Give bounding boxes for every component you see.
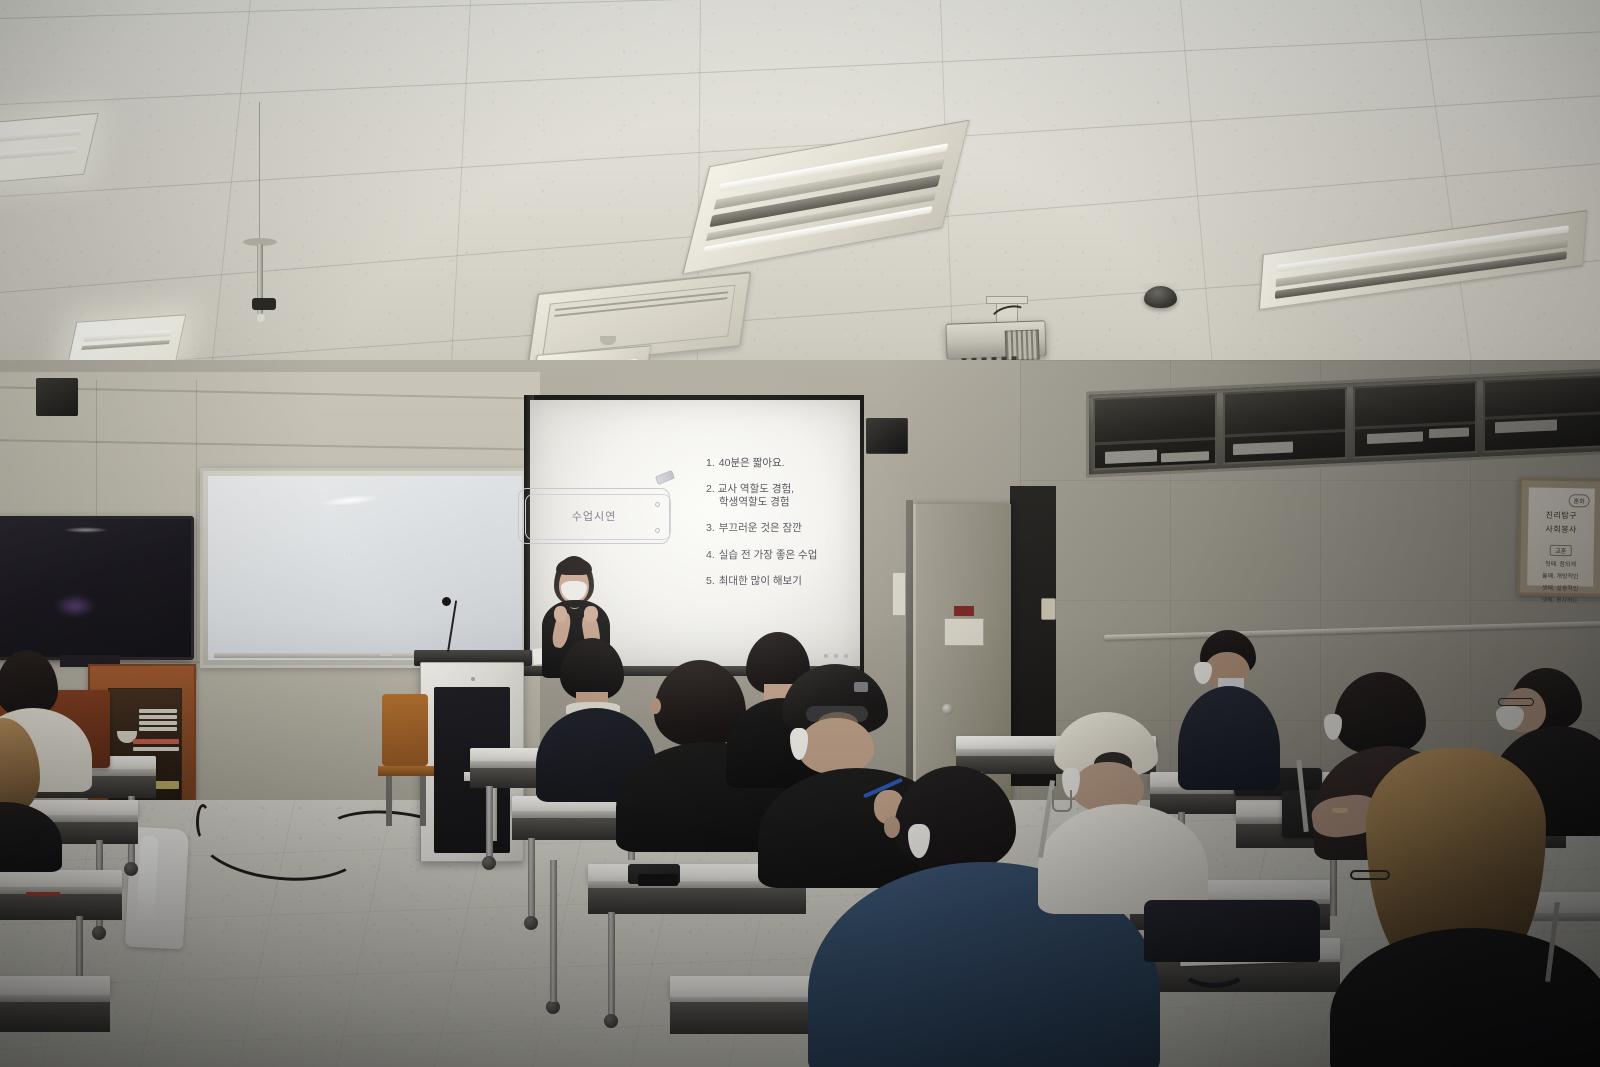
poster-line: 둘째. 개방적인 [1542, 571, 1579, 581]
wall-seam [196, 380, 197, 680]
tv-screen-content [55, 595, 95, 617]
stored-books [139, 715, 177, 719]
slide-bullet-text: 40분은 짧아요. [719, 457, 785, 470]
slide-bullet-number: 2. [706, 483, 715, 495]
slide-tag-dot [655, 528, 660, 533]
presenter-hand-right [584, 606, 598, 622]
poster-subtitle: 교훈 [1550, 545, 1571, 556]
cabinet-pane[interactable] [1483, 375, 1600, 452]
cap-logo [854, 682, 868, 692]
ceiling-sensor-bulb [257, 314, 265, 322]
ceiling-sensor-head [252, 298, 276, 310]
ac-drain-nub [600, 336, 616, 345]
slide-section-label: 수업시연 [572, 508, 616, 524]
slide-bullet-number: 1. [706, 457, 715, 470]
slide-bullet-text: 부끄러운 것은 잠깐 [719, 522, 802, 535]
slide-tag-dot [655, 502, 660, 507]
desk-leg [528, 838, 535, 920]
desk-underside [0, 1002, 110, 1032]
cabinet-pane[interactable] [1353, 381, 1477, 459]
whiteboard[interactable]: · · [200, 468, 530, 668]
slide-bullet-number: 4. [706, 549, 715, 562]
desk-caster [604, 1014, 618, 1028]
slide-bullet-item: 5. 최대한 많이 해보기 [706, 575, 856, 588]
cabinet-pane[interactable] [1223, 387, 1347, 465]
stored-books [133, 739, 179, 744]
stored-papers [1161, 451, 1209, 462]
slide-bullet-item: 4. 실습 전 가장 좋은 수업 [706, 549, 856, 562]
poster-line: 넷째. 봉사하는 [1542, 595, 1579, 605]
audience-member [1180, 630, 1300, 770]
hair [560, 638, 624, 700]
slide-bullet-text-line2: 학생역할도 경험 [719, 496, 856, 509]
hair [0, 718, 40, 814]
slide-bullet-item: 3. 부끄러운 것은 잠깐 [706, 522, 856, 535]
stored-papers [1429, 427, 1469, 438]
student-desk[interactable] [0, 976, 110, 996]
desk-underside [0, 894, 122, 920]
desk-leg [550, 860, 557, 1002]
poster-divider [1539, 540, 1584, 541]
poster-title-line-2: 사회봉사 [1545, 524, 1577, 536]
podium-screw [471, 677, 475, 681]
ceiling-light-fixture [0, 113, 99, 185]
eyeglasses [1350, 870, 1390, 880]
stored-books [139, 727, 177, 731]
desk-underside [588, 888, 806, 914]
necklace [570, 604, 579, 609]
phone-on-desk[interactable] [638, 874, 678, 886]
ceiling [0, 0, 1600, 420]
whiteboard-surface[interactable]: · · [208, 476, 522, 660]
presenter-fringe [556, 558, 592, 575]
wall-notice [892, 572, 906, 616]
dome-security-camera [1144, 286, 1177, 308]
slide-bullet-item: 2. 교사 역할도 경험, 학생역할도 경험 [706, 483, 856, 509]
wall-speaker [866, 418, 908, 454]
slide-bullet-text: 실습 전 가장 좋은 수업 [719, 549, 818, 562]
presenter-hand-left [554, 606, 567, 622]
poster-badge: 훈화 [1568, 494, 1589, 507]
slide-bullet-text: 교사 역할도 경험, [718, 483, 794, 495]
slide-bullet-number: 5. [706, 575, 715, 588]
stored-papers [1367, 432, 1423, 445]
slide-page-dot [844, 654, 848, 658]
audience-member [0, 718, 76, 858]
slide-bullet-text: 최대한 많이 해보기 [719, 575, 802, 588]
audience-member [1330, 748, 1600, 1067]
classroom-photo: 훈화 진리탐구 사회봉사 교훈 첫째. 참되게 둘째. 개방적인 셋째. 실용적… [0, 0, 1600, 1067]
whiteboard-faint-writing: · · [346, 550, 353, 557]
slide-bullet-list: 1. 40분은 짧아요. 2. 교사 역할도 경험, 학생역할도 경험 3. 부… [706, 457, 856, 601]
wall-speaker [36, 378, 78, 416]
desk-caster [92, 926, 106, 940]
eyeglasses [1498, 698, 1534, 706]
ear [650, 698, 661, 714]
wooden-chair[interactable] [382, 694, 428, 766]
torso [1330, 928, 1600, 1067]
wooden-chair-leg [386, 776, 392, 826]
desk-leg [608, 912, 615, 1020]
desk-red-accent [26, 892, 60, 896]
wall-poster: 훈화 진리탐구 사회봉사 교훈 첫째. 참되게 둘째. 개방적인 셋째. 실용적… [1527, 487, 1595, 586]
door-sign-red-label [954, 606, 974, 616]
paperclip-icon [655, 470, 675, 485]
projector-ceiling-mount [986, 296, 1028, 304]
power-cable-on-floor [196, 804, 210, 840]
wooden-chair-leg [420, 776, 426, 826]
wooden-chair-seat[interactable] [378, 766, 434, 776]
ear [884, 816, 900, 838]
stored-books [133, 747, 179, 751]
whiteboard-glare [321, 493, 380, 508]
stored-books [139, 721, 177, 725]
student-desk[interactable] [0, 870, 122, 888]
slide-bullet-number: 3. [706, 522, 715, 535]
poster-line: 첫째. 참되게 [1545, 559, 1576, 569]
stored-papers [1495, 419, 1557, 433]
door-sign [944, 618, 984, 646]
stored-papers [1233, 441, 1293, 455]
poster-title-line-1: 진리탐구 [1546, 510, 1578, 522]
desk-caster [482, 856, 496, 870]
slide-section-tag: 수업시연 [518, 488, 670, 544]
cabinet-pane[interactable] [1093, 393, 1217, 471]
hair [1334, 672, 1426, 754]
poster-line: 셋째. 실용적인 [1542, 583, 1579, 593]
torso [1038, 804, 1208, 914]
tv-glare [63, 527, 109, 533]
whiteboard-marker[interactable] [380, 653, 392, 656]
torso [0, 802, 62, 872]
desk-caster [124, 862, 138, 876]
light-switch-panel[interactable] [1041, 598, 1056, 620]
bag-strap [1180, 950, 1248, 988]
desk-leg [486, 786, 493, 860]
suit-jacket [1178, 686, 1280, 790]
wall-poster-frame: 훈화 진리탐구 사회봉사 교훈 첫째. 참되게 둘째. 개방적인 셋째. 실용적… [1517, 477, 1600, 596]
ceiling-sensor-wire [259, 102, 260, 240]
slide-bullet-item: 1. 40분은 짧아요. [706, 457, 856, 470]
gooseneck-microphone[interactable] [442, 597, 451, 606]
stored-papers [1105, 450, 1157, 464]
stored-books [139, 709, 177, 713]
wall-tv-monitor[interactable] [0, 516, 194, 660]
hair [0, 650, 58, 716]
desk-caster [524, 916, 538, 930]
desk-caster [546, 1000, 560, 1014]
desk-hook [1052, 790, 1072, 812]
